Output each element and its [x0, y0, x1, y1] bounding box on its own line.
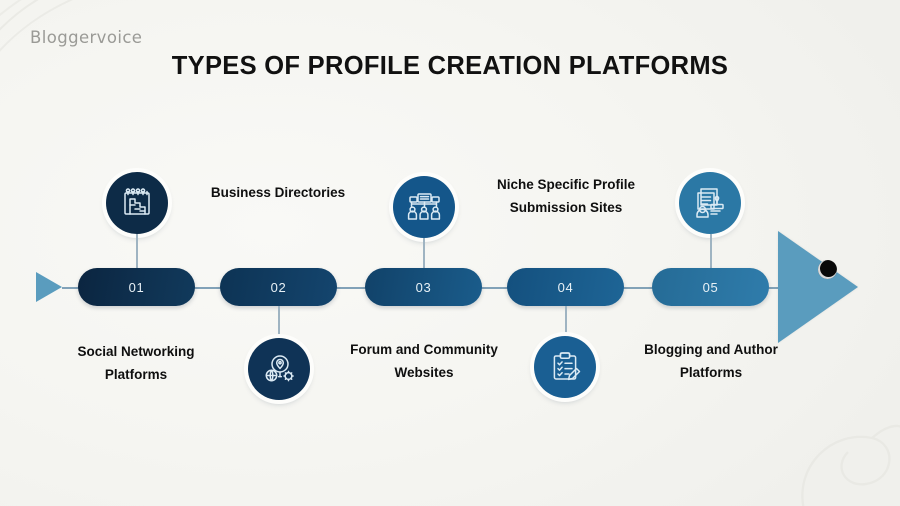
step-caption-04: Niche Specific Profile Submission Sites — [490, 173, 642, 219]
step-icon-01[interactable] — [106, 172, 168, 234]
clipboard-checklist-pencil-icon — [547, 349, 583, 385]
step-number-04: 04 — [558, 280, 574, 295]
step-caption-03: Forum and Community Websites — [348, 338, 500, 384]
timeline: 01 Social Networking Platforms Business … — [0, 0, 900, 506]
infographic-canvas: Bloggervoice TYPES OF PROFILE CREATION P… — [0, 0, 900, 506]
step-number-03: 03 — [416, 280, 432, 295]
step-pill-02[interactable]: 02 — [220, 268, 337, 306]
step-icon-03[interactable] — [393, 176, 455, 238]
step-caption-02: Business Directories — [198, 181, 358, 204]
timeline-end-arrow-icon — [778, 231, 858, 343]
step-number-05: 05 — [703, 280, 719, 295]
step-icon-05[interactable] — [679, 172, 741, 234]
connector-05 — [710, 234, 712, 268]
step-caption-01: Social Networking Platforms — [46, 340, 226, 386]
step-pill-03[interactable]: 03 — [365, 268, 482, 306]
location-globe-gear-icon — [261, 351, 297, 387]
connector-03 — [423, 238, 425, 268]
connector-04 — [565, 306, 567, 338]
connector-01 — [136, 234, 138, 268]
author-documents-icon — [692, 185, 728, 221]
step-icon-02[interactable] — [248, 338, 310, 400]
timeline-start-arrow-icon — [36, 272, 62, 302]
step-caption-05: Blogging and Author Platforms — [640, 338, 782, 384]
forum-people-icon — [406, 189, 442, 225]
step-pill-05[interactable]: 05 — [652, 268, 769, 306]
network-board-icon — [119, 185, 155, 221]
step-number-01: 01 — [129, 280, 145, 295]
step-pill-04[interactable]: 04 — [507, 268, 624, 306]
step-number-02: 02 — [271, 280, 287, 295]
mouse-cursor-dot-icon — [818, 260, 837, 279]
step-icon-04[interactable] — [534, 336, 596, 398]
connector-02 — [278, 306, 280, 340]
step-pill-01[interactable]: 01 — [78, 268, 195, 306]
